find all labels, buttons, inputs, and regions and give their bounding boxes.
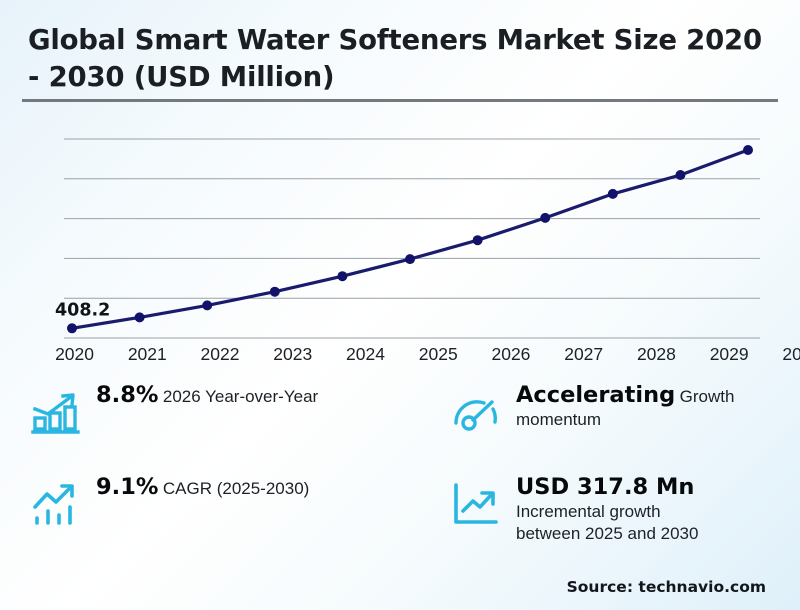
chart-point-2030	[743, 145, 753, 155]
x-axis-label-2023: 2023	[256, 344, 329, 368]
chart-first-point-label: 408.2	[55, 300, 110, 320]
stat-incremental-growth: USD 317.8 Mn Incremental growth between …	[450, 474, 778, 566]
stat-cagr: 9.1% CAGR (2025-2030)	[30, 474, 450, 566]
market-size-line-chart: 408.2	[0, 112, 800, 360]
chart-point-2022	[202, 300, 212, 310]
title-divider	[22, 99, 778, 102]
chart-point-2024	[337, 271, 347, 281]
chart-point-2021	[135, 312, 145, 322]
x-axis-label-2028: 2028	[620, 344, 693, 368]
chart-gridlines	[64, 139, 760, 338]
trend-up-bars-icon	[30, 478, 82, 530]
x-axis-label-2030: 2030	[766, 344, 800, 368]
stat-value: 9.1%	[96, 474, 158, 500]
chart-canvas: 408.2	[0, 112, 800, 360]
stat-value: Accelerating	[516, 382, 675, 408]
chart-point-2025	[405, 254, 415, 264]
x-axis-label-2024: 2024	[329, 344, 402, 368]
stat-description: Incremental growth between 2025 and 2030	[516, 502, 698, 543]
x-axis-label-2021: 2021	[111, 344, 184, 368]
header: Global Smart Water Softeners Market Size…	[28, 22, 780, 95]
stat-description: 2026 Year-over-Year	[163, 387, 318, 406]
page-title: Global Smart Water Softeners Market Size…	[28, 22, 780, 95]
chart-point-2023	[270, 287, 280, 297]
chart-point-2029	[675, 170, 685, 180]
stat-yoy: 8.8% 2026 Year-over-Year	[30, 382, 450, 474]
x-axis-label-2022: 2022	[184, 344, 257, 368]
stat-value: USD 317.8 Mn	[516, 474, 694, 500]
stat-description: CAGR (2025-2030)	[163, 479, 309, 498]
chart-point-2020	[67, 323, 77, 333]
bar-chart-growth-icon	[30, 386, 82, 438]
infographic-poster: Global Smart Water Softeners Market Size…	[0, 0, 800, 610]
stat-text-block: USD 317.8 Mn Incremental growth between …	[516, 474, 778, 544]
chart-point-2026	[473, 235, 483, 245]
speedometer-icon	[450, 386, 502, 438]
chart-point-2027	[540, 213, 550, 223]
stats-grid: 8.8% 2026 Year-over-Year Accelerating Gr…	[30, 382, 778, 566]
chart-series-line	[72, 150, 748, 328]
stat-text-block: Accelerating Growth momentum	[516, 382, 778, 431]
stat-text-block: 8.8% 2026 Year-over-Year	[96, 382, 318, 409]
x-axis-label-2026: 2026	[475, 344, 548, 368]
source-attribution: Source: technavio.com	[567, 578, 766, 596]
chart-data-markers	[67, 145, 753, 333]
axis-trend-arrow-icon	[450, 478, 502, 530]
chart-point-2028	[608, 189, 618, 199]
x-axis-label-2020: 2020	[38, 344, 111, 368]
x-axis-label-2027: 2027	[547, 344, 620, 368]
stat-value: 8.8%	[96, 382, 158, 408]
stat-text-block: 9.1% CAGR (2025-2030)	[96, 474, 309, 501]
chart-x-axis-labels: 2020202120222023202420252026202720282029…	[0, 344, 800, 368]
x-axis-label-2029: 2029	[693, 344, 766, 368]
stat-momentum: Accelerating Growth momentum	[450, 382, 778, 474]
x-axis-label-2025: 2025	[402, 344, 475, 368]
